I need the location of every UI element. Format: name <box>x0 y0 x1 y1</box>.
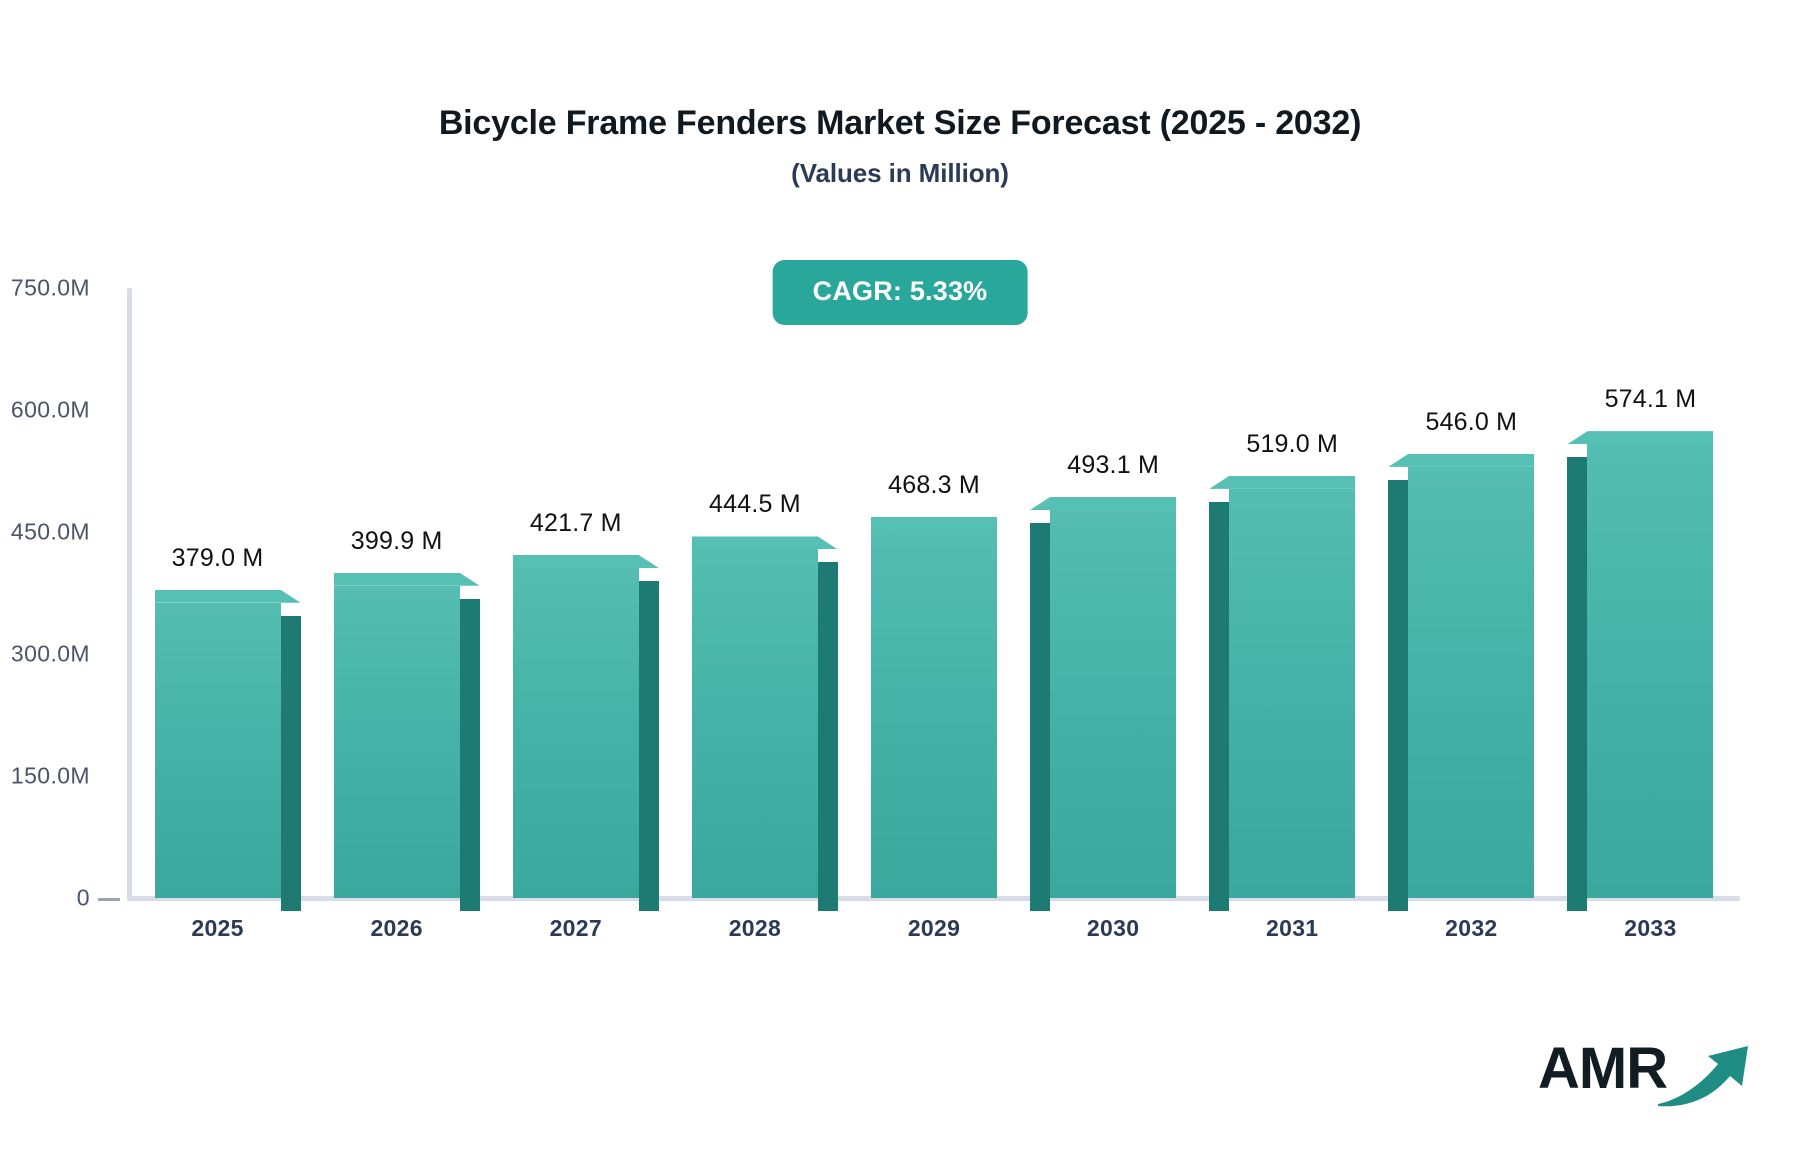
bar-front-face <box>692 549 818 898</box>
bar-side-face <box>818 562 838 911</box>
bar-front-face <box>155 603 281 898</box>
y-axis-line <box>127 288 132 898</box>
bar-2025[interactable] <box>155 590 281 898</box>
plot-area: 750.0M600.0M450.0M300.0M150.0M0 20252026… <box>0 0 1800 1156</box>
bar-2030[interactable] <box>1050 497 1176 898</box>
bar-value-label: 421.7 M <box>530 509 622 538</box>
bar-front-face <box>1408 467 1534 898</box>
x-axis-tick-label: 2031 <box>1266 915 1318 942</box>
bar-value-label: 574.1 M <box>1605 385 1697 414</box>
bar-side-face <box>639 581 659 911</box>
y-axis-tick-label: 150.0M <box>11 763 90 790</box>
bar-value-label: 493.1 M <box>1067 451 1159 480</box>
bar-front-face <box>513 568 639 898</box>
x-axis-tick-label: 2028 <box>729 915 781 942</box>
bar-top-face <box>334 573 480 586</box>
y-axis-tick-label: 0 <box>77 885 90 912</box>
amr-logo: AMR <box>1538 1034 1748 1120</box>
chart-page: Bicycle Frame Fenders Market Size Foreca… <box>0 0 1800 1156</box>
bar-top-face <box>871 517 997 530</box>
bar-top-face <box>692 536 838 549</box>
y-axis-zero-tick <box>98 898 120 901</box>
bar-2029[interactable] <box>871 517 997 898</box>
bar-2027[interactable] <box>513 555 639 898</box>
bar-top-face <box>1209 476 1355 489</box>
bar-2026[interactable] <box>334 573 460 898</box>
bar-side-face <box>1209 502 1229 911</box>
amr-logo-text: AMR <box>1538 1040 1667 1098</box>
x-axis-tick-label: 2026 <box>370 915 422 942</box>
bar-front-face <box>334 586 460 898</box>
bar-top-face <box>1567 431 1713 444</box>
bar-value-label: 399.9 M <box>351 527 443 556</box>
bar-2032[interactable] <box>1408 454 1534 898</box>
x-axis-tick-label: 2033 <box>1624 915 1676 942</box>
bar-top-face <box>1388 454 1534 467</box>
growth-arrow-icon <box>1656 1042 1752 1108</box>
x-axis-tick-label: 2029 <box>908 915 960 942</box>
bar-top-face <box>1030 497 1176 510</box>
y-axis-tick-label: 450.0M <box>11 519 90 546</box>
bar-front-face <box>871 530 997 898</box>
bar-front-face <box>1050 510 1176 898</box>
x-axis-tick-label: 2025 <box>191 915 243 942</box>
bar-side-face <box>1030 523 1050 911</box>
bar-side-face <box>281 616 301 911</box>
bar-side-face <box>1567 457 1587 911</box>
bar-value-label: 444.5 M <box>709 490 801 519</box>
bar-value-label: 519.0 M <box>1246 430 1338 459</box>
bar-2028[interactable] <box>692 536 818 898</box>
bar-2031[interactable] <box>1229 476 1355 898</box>
x-axis-tick-label: 2027 <box>550 915 602 942</box>
bar-front-face <box>1229 489 1355 898</box>
bar-side-face <box>1388 480 1408 911</box>
bar-2033[interactable] <box>1587 431 1713 898</box>
y-axis-tick-label: 300.0M <box>11 641 90 668</box>
y-axis-tick-label: 750.0M <box>11 275 90 302</box>
y-axis-tick-label: 600.0M <box>11 397 90 424</box>
x-axis-tick-label: 2032 <box>1445 915 1497 942</box>
bar-value-label: 546.0 M <box>1425 408 1517 437</box>
x-axis-tick-label: 2030 <box>1087 915 1139 942</box>
bar-top-face <box>513 555 659 568</box>
bar-top-face <box>155 590 301 603</box>
bar-value-label: 379.0 M <box>172 544 264 573</box>
bar-value-label: 468.3 M <box>888 471 980 500</box>
bar-side-face <box>460 599 480 911</box>
bar-front-face <box>1587 444 1713 898</box>
